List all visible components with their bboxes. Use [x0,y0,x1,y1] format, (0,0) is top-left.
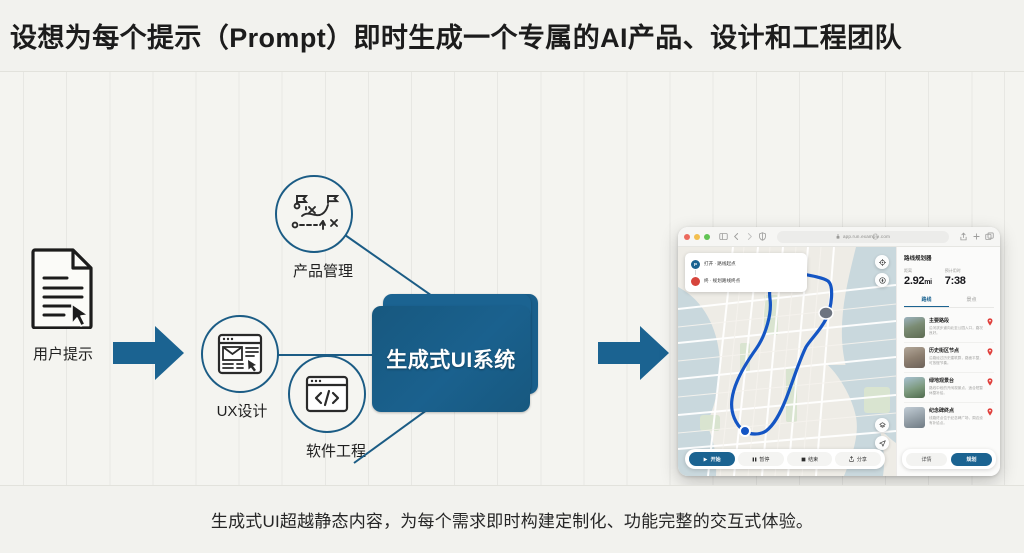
diagram-canvas: 用户提示 UX设计 [0,72,1024,485]
stop-icon [801,457,806,462]
stat-duration: 预计用时 7:38 [945,268,966,287]
address-bar-text: app.run.example.com [843,234,890,239]
chevron-left-icon[interactable] [732,232,741,241]
pause-icon [752,457,757,462]
navigate-button[interactable] [875,436,889,450]
navigate-arrow-icon [879,440,886,447]
list-item[interactable]: 纪念碑终点 线路终点位于纪念碑广场，周边设有补给点。 [904,403,994,432]
chevron-right-icon[interactable] [745,232,754,241]
stat-duration-value: 7:38 [945,275,966,287]
poi-thumbnail [904,317,925,338]
core-generative-ui-system[interactable]: 生成式UI系统 [372,294,538,412]
action-share-label: 分享 [857,456,867,463]
action-pause-button[interactable]: 暂停 [738,452,784,466]
list-item[interactable]: 绿地观景台 路线中段的开阔观景点，适合短暂休整补给。 [904,373,994,403]
node-ux-design: UX设计 [201,315,283,421]
layers-button[interactable] [875,418,889,432]
roadmap-flags-icon [288,194,340,234]
lock-icon [836,234,840,239]
page-header: 设想为每个提示（Prompt）即时生成一个专属的AI产品、设计和工程团队 [0,0,1024,72]
node-software-engineering: 软件工程 [288,355,384,461]
upload-icon [849,456,854,462]
map-view[interactable]: P 打开 · 路线起点 终 · 规划路线终点 [678,247,896,476]
compass-icon [879,277,886,284]
action-stop-button[interactable]: 结束 [787,452,833,466]
map-pin-icon[interactable] [987,318,993,326]
tab-route[interactable]: 路线 [904,293,949,307]
map-pin-icon[interactable] [987,378,993,386]
poi-desc: 沿路经过历史建筑群，路面平整，可放慢节奏。 [929,356,986,367]
playback-action-bar[interactable]: 开始 暂停 结束 [685,449,885,469]
route-end-badge-icon [691,277,700,286]
panel-tabs: 路线 景点 [904,293,994,308]
page-footer: 生成式UI超越静态内容，为每个需求即时构建定制化、功能完整的交互式体验。 [0,485,1024,553]
route-start-text: 打开 · 路线起点 [704,261,736,267]
node-label-user-prompt: 用户提示 [18,343,108,364]
node-label-product-management: 产品管理 [275,260,371,281]
arrow-prompt-to-ux [113,325,185,386]
stat-distance-value: 2.92mi [904,275,932,287]
node-product-management: 产品管理 [275,175,371,281]
poi-thumbnail [904,407,925,428]
privacy-shield-icon[interactable] [758,232,767,241]
node-circle-ux-design [201,315,279,393]
stat-distance-number: 2.92 [904,275,924,287]
generated-app-window[interactable]: app.run.example.com [678,227,1000,476]
poi-thumbnail [904,377,925,398]
tab-attractions[interactable]: 景点 [949,293,994,307]
close-red-icon[interactable] [684,234,690,240]
stat-distance-unit: mi [924,279,932,286]
layers-icon [879,422,886,429]
app-body: P 打开 · 路线起点 终 · 规划路线终点 [678,247,1000,476]
route-start-row[interactable]: P 打开 · 路线起点 [691,258,801,270]
poi-desc: 沿河滨步道向北至公园入口，路况良好。 [929,326,986,337]
stat-distance-label: 距离 [904,268,932,274]
node-user-prompt: 用户提示 [18,247,108,364]
page-title: 设想为每个提示（Prompt）即时生成一个专属的AI产品、设计和工程团队 [0,16,902,55]
map-pin-icon[interactable] [987,408,993,416]
panel-title: 路线规划器 [904,254,994,262]
poi-name: 历史街区节点 [929,347,986,354]
action-stop-label: 结束 [808,456,818,463]
list-item[interactable]: 主要路段 沿河滨步道向北至公园入口，路况良好。 [904,313,994,343]
action-pause-label: 暂停 [759,456,769,463]
minimize-yellow-icon[interactable] [694,234,700,240]
stat-distance: 距离 2.92mi [904,268,932,287]
poi-desc: 路线中段的开阔观景点，适合短暂休整补给。 [929,386,986,397]
locate-button[interactable] [875,255,889,269]
node-circle-product-management [275,175,353,253]
map-pin-icon[interactable] [987,348,993,356]
route-details-panel[interactable]: 路线规划器 距离 2.92mi 预计用时 7:38 路线 景点 [896,247,1000,476]
panel-details-button[interactable]: 详情 [906,453,947,466]
route-endpoints-card[interactable]: P 打开 · 路线起点 终 · 规划路线终点 [685,253,807,292]
poi-name: 主要路段 [929,317,986,324]
action-share-button[interactable]: 分享 [835,452,881,466]
compass-button[interactable] [875,273,889,287]
plus-icon[interactable] [972,232,981,241]
wireframe-icon [217,333,263,375]
reload-icon[interactable] [871,232,880,241]
share-icon[interactable] [959,232,968,241]
zoom-green-icon[interactable] [704,234,710,240]
route-start-badge-icon: P [691,260,700,269]
route-end-row[interactable]: 终 · 规划路线终点 [691,275,801,287]
panel-action-bar[interactable]: 详情 规划 [902,449,996,469]
play-icon [703,457,708,462]
panel-plan-button[interactable]: 规划 [951,453,992,466]
panel-stats: 距离 2.92mi 预计用时 7:38 [904,268,994,287]
stat-duration-label: 预计用时 [945,268,966,274]
core-label: 生成式UI系统 [372,306,530,412]
node-label-ux-design: UX设计 [201,400,283,421]
address-bar[interactable]: app.run.example.com [777,231,949,243]
browser-chrome: app.run.example.com [678,227,1000,247]
route-end-text: 终 · 规划路线终点 [704,278,740,284]
sidebar-toggle-icon[interactable] [719,232,728,241]
action-start-button[interactable]: 开始 [689,452,735,466]
action-start-label: 开始 [711,456,721,463]
list-item[interactable]: 历史街区节点 沿路经过历史建筑群，路面平整，可放慢节奏。 [904,343,994,373]
tab-overview-icon[interactable] [985,232,994,241]
node-circle-software-engineering [288,355,366,433]
arrow-core-to-output [598,325,670,386]
crosshair-icon [879,259,886,266]
poi-desc: 线路终点位于纪念碑广场，周边设有补给点。 [929,416,986,427]
code-window-icon [304,373,350,415]
footer-caption: 生成式UI超越静态内容，为每个需求即时构建定制化、功能完整的交互式体验。 [211,507,813,532]
poi-name: 纪念碑终点 [929,407,986,414]
document-cursor-icon [31,247,95,329]
poi-thumbnail [904,347,925,368]
poi-name: 绿地观景台 [929,377,986,384]
